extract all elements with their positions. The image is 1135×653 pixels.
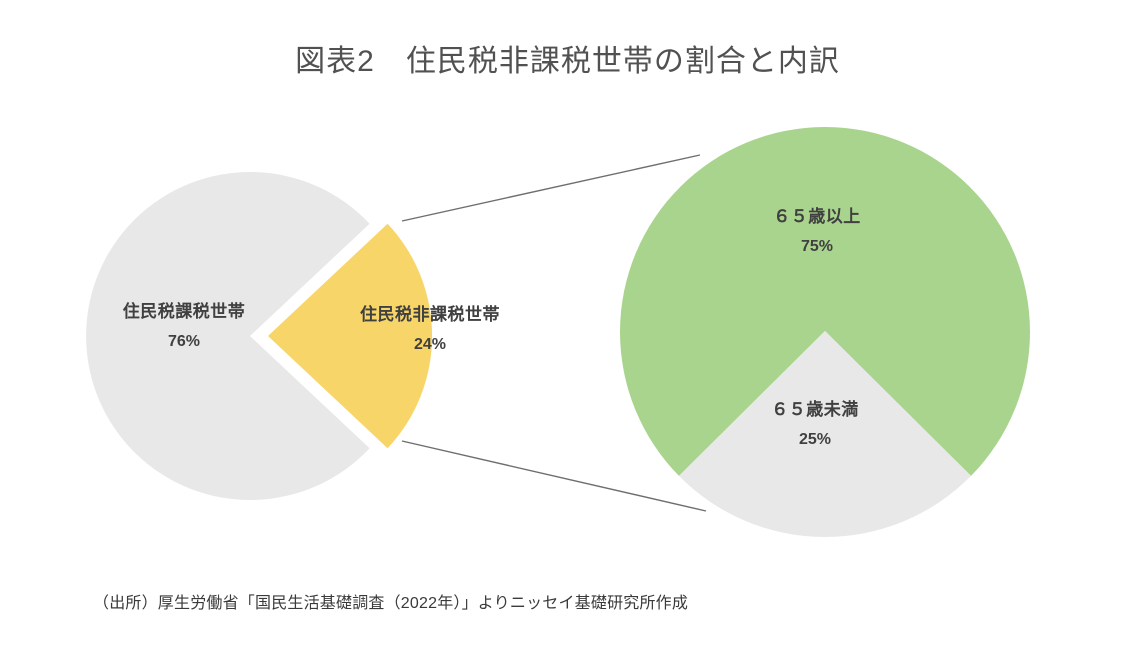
pie-label-age-65-and-over-value: 75% — [722, 235, 912, 258]
pie-label-age-under-65-value: 25% — [725, 428, 905, 451]
pie-label-exempt-households-value: 24% — [340, 333, 520, 356]
pie-label-age-65-and-over-name: ６５歳以上 — [722, 205, 912, 230]
pie-label-taxed-households-value: 76% — [84, 330, 284, 353]
callout-line-top — [402, 155, 700, 221]
source-note: （出所）厚生労働省「国民生活基礎調査（2022年）」よりニッセイ基礎研究所作成 — [93, 589, 688, 613]
pie-label-taxed-households: 住民税課税世帯 76% — [84, 300, 284, 353]
figure-area: 住民税課税世帯 76% 住民税非課税世帯 24% ６５歳以上 75% ６５歳未満… — [0, 0, 1135, 653]
pie-label-exempt-households-name: 住民税非課税世帯 — [340, 303, 520, 328]
pie-label-age-65-and-over: ６５歳以上 75% — [722, 205, 912, 258]
pie-chart-right — [620, 127, 1030, 537]
pie-label-exempt-households: 住民税非課税世帯 24% — [340, 303, 520, 356]
pie-label-taxed-households-name: 住民税課税世帯 — [84, 300, 284, 325]
pie-label-age-under-65-name: ６５歳未満 — [725, 398, 905, 423]
pie-label-age-under-65: ６５歳未満 25% — [725, 398, 905, 451]
